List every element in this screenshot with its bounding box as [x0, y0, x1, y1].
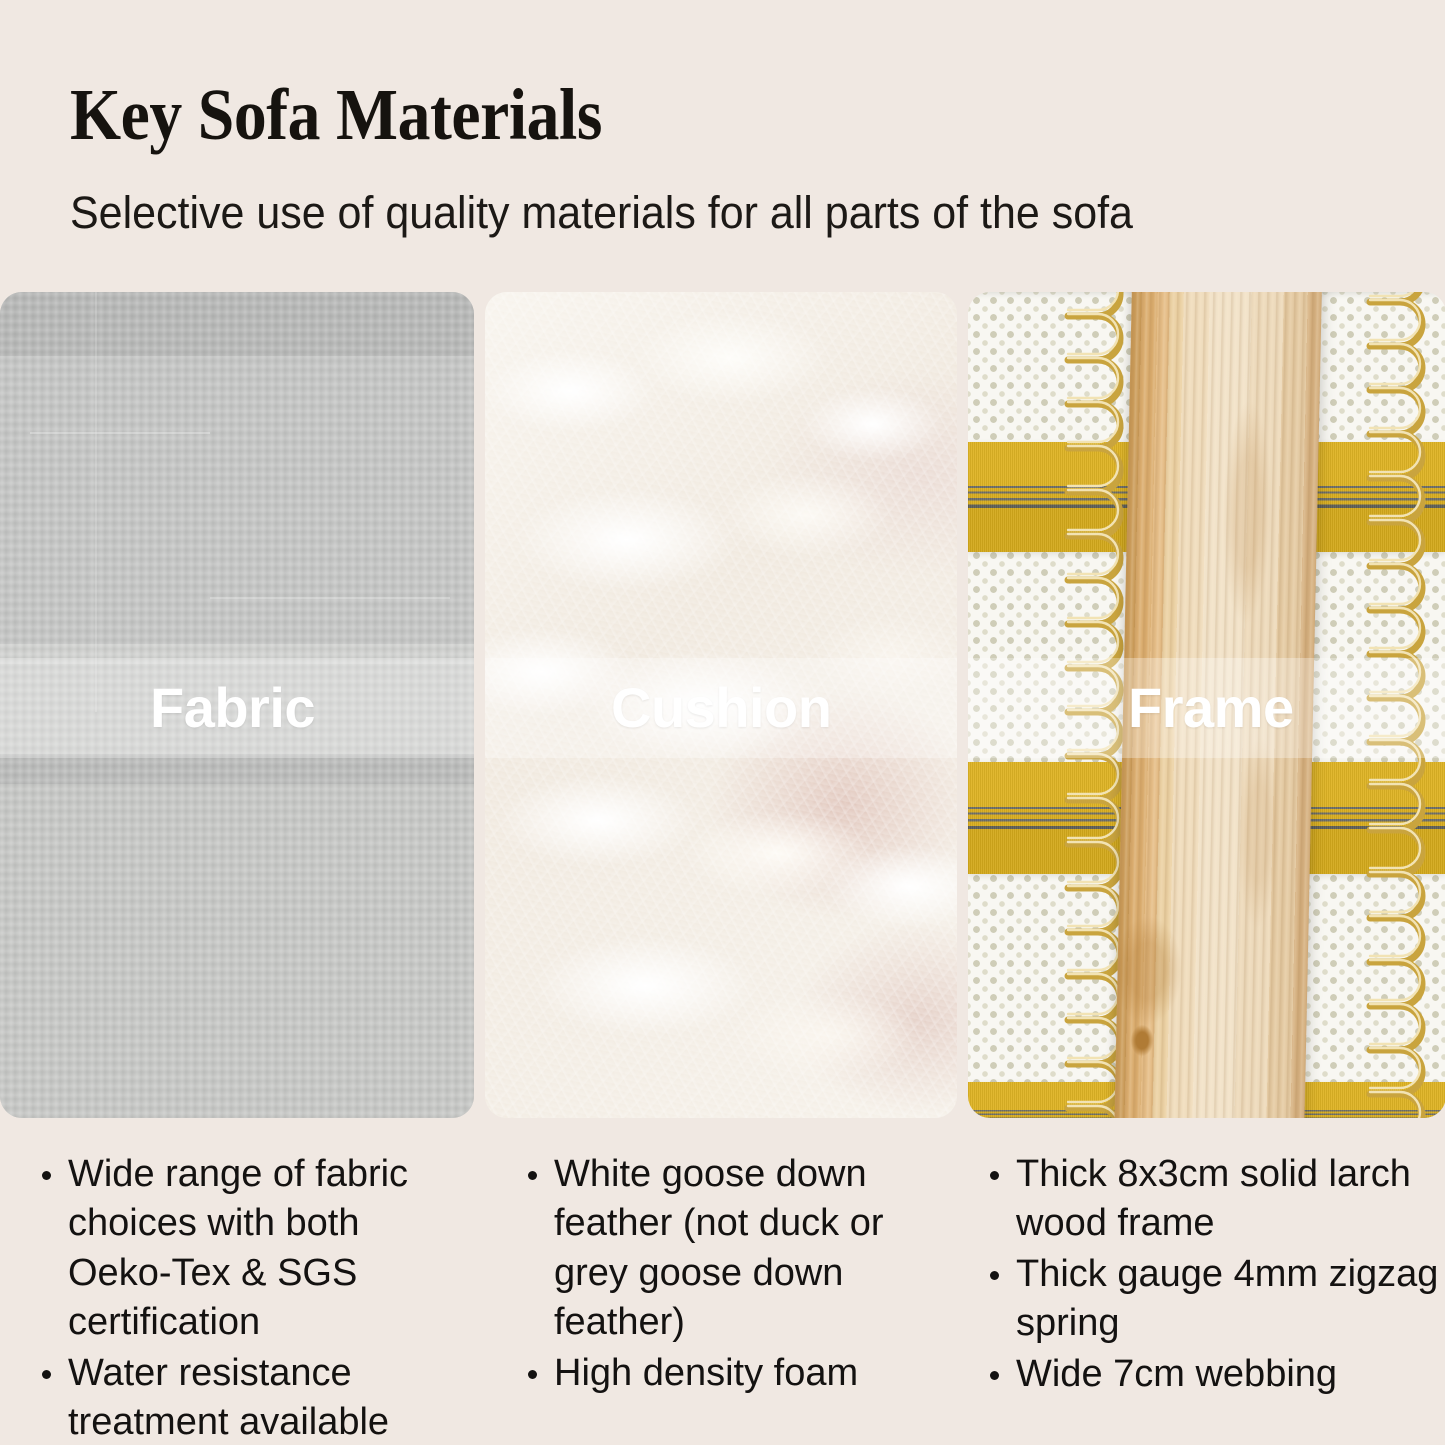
- material-card-fabric[interactable]: Fabric: [0, 292, 474, 1118]
- list-item: Thick 8x3cm solid larch wood frame: [982, 1150, 1439, 1249]
- list-item: White goose down feather (not duck or gr…: [520, 1150, 956, 1348]
- material-card-cushion[interactable]: Cushion: [485, 292, 957, 1118]
- key-sofa-materials-infographic: Key Sofa Materials Selective use of qual…: [0, 0, 1445, 1445]
- cushion-bullet-list: White goose down feather (not duck or gr…: [520, 1150, 956, 1398]
- frame-bullet-list: Thick 8x3cm solid larch wood frame Thick…: [982, 1150, 1439, 1399]
- sofa-frame-image: [968, 292, 1445, 1118]
- list-item: Thick gauge 4mm zigzag spring: [982, 1250, 1439, 1349]
- frame-bullets-column: Thick 8x3cm solid larch wood frame Thick…: [970, 1150, 1445, 1445]
- page-subtitle: Selective use of quality materials for a…: [70, 189, 1316, 236]
- list-item: Water resistance treatment available: [34, 1349, 467, 1445]
- goose-down-feather-image: [485, 292, 957, 1118]
- fabric-bullets-column: Wide range of fabric choices with both O…: [0, 1150, 485, 1445]
- list-item: Wide 7cm webbing: [982, 1350, 1439, 1399]
- fabric-bullet-list: Wide range of fabric choices with both O…: [34, 1150, 467, 1445]
- header: Key Sofa Materials Selective use of qual…: [0, 0, 1445, 236]
- material-card-frame[interactable]: Frame: [968, 292, 1445, 1118]
- fabric-swatch-image: [0, 292, 474, 1118]
- page-title: Key Sofa Materials: [70, 78, 1245, 151]
- zigzag-spring-icon: [1366, 292, 1430, 1118]
- cushion-bullets-column: White goose down feather (not duck or gr…: [485, 1150, 970, 1445]
- list-item: Wide range of fabric choices with both O…: [34, 1150, 467, 1348]
- larch-wood-beam: [1114, 292, 1322, 1118]
- material-bullets-row: Wide range of fabric choices with both O…: [0, 1150, 1445, 1445]
- material-cards-row: Fabric Cushion: [0, 292, 1445, 1118]
- list-item: High density foam: [520, 1349, 956, 1398]
